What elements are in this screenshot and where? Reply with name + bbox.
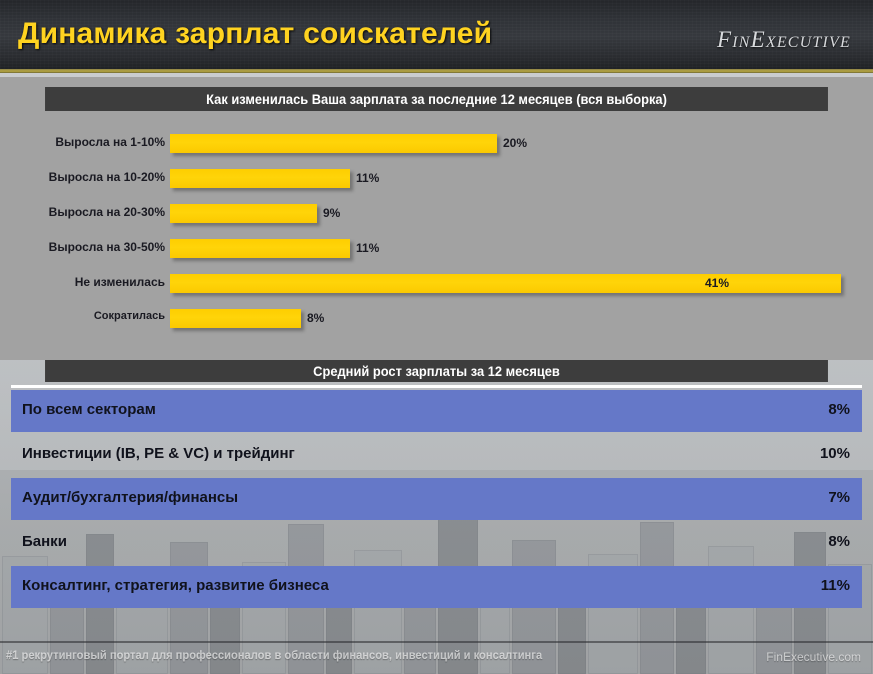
bar-chart-row: Не изменилась41% <box>0 274 873 296</box>
table-section-heading: Средний рост зарплаты за 12 месяцев <box>45 360 828 382</box>
table-row: По всем секторам8% <box>11 390 862 432</box>
bar-chart-row: Выросла на 20-30%9% <box>0 204 873 226</box>
bar-track: 8% <box>170 309 301 328</box>
bar-value-label: 9% <box>323 206 340 220</box>
bar-track: 9% <box>170 204 317 223</box>
bar-value-label: 11% <box>356 171 379 185</box>
bar-category-label: Не изменилась <box>75 275 165 289</box>
table-row-sector: Аудит/бухгалтерия/финансы <box>22 489 238 506</box>
chart-section-heading: Как изменилась Ваша зарплата за последни… <box>45 87 828 111</box>
bar-fill <box>170 309 301 328</box>
bar-value-label: 8% <box>307 311 324 325</box>
bar-fill <box>170 204 317 223</box>
bar-fill <box>170 239 350 258</box>
bar-fill <box>170 169 350 188</box>
bar-fill <box>170 134 497 153</box>
bar-category-label: Сократилась <box>94 310 165 322</box>
bar-track: 20% <box>170 134 497 153</box>
table-row-growth-value: 7% <box>828 489 850 506</box>
bar-category-label: Выросла на 1-10% <box>55 135 165 149</box>
bar-chart-row: Выросла на 1-10%20% <box>0 134 873 156</box>
table-row: Инвестиции (IB, PE & VC) и трейдинг10% <box>11 434 862 476</box>
table-row: Банки8% <box>11 522 862 564</box>
page-header: Динамика зарплат соискателей FinExecutiv… <box>0 0 873 73</box>
bar-track: 11% <box>170 169 350 188</box>
table-row: Консалтинг, стратегия, развитие бизнеса1… <box>11 566 862 608</box>
table-row: Аудит/бухгалтерия/финансы7% <box>11 478 862 520</box>
footer-divider <box>0 641 873 643</box>
page-title: Динамика зарплат соискателей <box>18 17 492 51</box>
bar-track: 41% <box>170 274 841 293</box>
bar-value-label: 11% <box>356 241 379 255</box>
footer-website: FinExecutive.com <box>766 650 861 664</box>
bar-chart-row: Сократилась8% <box>0 309 873 331</box>
bar-value-label: 20% <box>503 136 527 150</box>
table-row-growth-value: 8% <box>828 401 850 418</box>
table-row-sector: По всем секторам <box>22 401 156 418</box>
table-row-sector: Консалтинг, стратегия, развитие бизнеса <box>22 577 329 594</box>
table-row-growth-value: 11% <box>821 577 850 594</box>
table-row-growth-value: 8% <box>828 533 850 550</box>
bar-value-label: 41% <box>705 276 729 290</box>
table-row-sector: Банки <box>22 533 67 550</box>
bar-category-label: Выросла на 10-20% <box>49 170 165 184</box>
table-row-sector: Инвестиции (IB, PE & VC) и трейдинг <box>22 445 295 462</box>
bar-chart-row: Выросла на 10-20%11% <box>0 169 873 191</box>
bar-category-label: Выросла на 20-30% <box>49 205 165 219</box>
bar-category-label: Выросла на 30-50% <box>49 240 165 254</box>
table-row-growth-value: 10% <box>820 445 850 462</box>
table-top-divider <box>11 385 862 388</box>
footer-tagline: #1 рекрутинговый портал для профессионал… <box>6 650 542 662</box>
bar-fill <box>170 274 841 293</box>
slide-canvas: Динамика зарплат соискателей FinExecutiv… <box>0 0 873 674</box>
bar-track: 11% <box>170 239 350 258</box>
finexecutive-logo: FinExecutive <box>717 27 851 53</box>
bar-chart-row: Выросла на 30-50%11% <box>0 239 873 261</box>
